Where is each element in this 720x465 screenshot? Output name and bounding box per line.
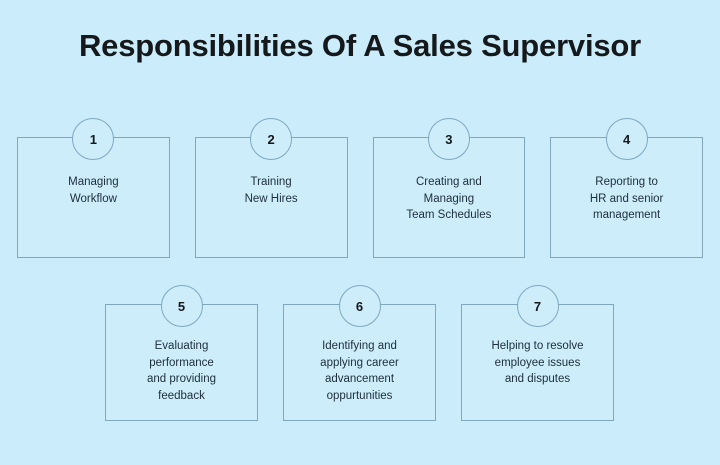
step-label-5: Evaluating performance and providing fee… [139,338,224,404]
step-label-2: Training New Hires [237,174,306,207]
step-number-badge-3: 3 [428,118,470,160]
step-number-badge-1: 1 [72,118,114,160]
step-card-2[interactable]: 2 Training New Hires [195,137,348,258]
step-card-1[interactable]: 1 Managing Workflow [17,137,170,258]
step-label-7: Helping to resolve employee issues and d… [483,338,591,388]
step-label-1: Managing Workflow [60,174,127,207]
step-card-7[interactable]: 7 Helping to resolve employee issues and… [461,304,614,421]
step-card-3[interactable]: 3 Creating and Managing Team Schedules [373,137,526,258]
page-title: Responsibilities Of A Sales Supervisor [0,26,720,66]
step-number-badge-6: 6 [339,285,381,327]
step-number-badge-5: 5 [161,285,203,327]
step-number-badge-4: 4 [606,118,648,160]
step-label-6: Identifying and applying career advancem… [312,338,407,404]
step-number-badge-7: 7 [517,285,559,327]
step-card-6[interactable]: 6 Identifying and applying career advanc… [283,304,436,421]
infographic-canvas: Responsibilities Of A Sales Supervisor 1… [0,0,720,465]
step-card-4[interactable]: 4 Reporting to HR and senior management [550,137,703,258]
step-label-4: Reporting to HR and senior management [582,174,672,224]
step-number-badge-2: 2 [250,118,292,160]
step-row-one: 1 Managing Workflow 2 Training New Hires… [17,137,703,258]
step-label-3: Creating and Managing Team Schedules [398,174,499,224]
step-row-two: 5 Evaluating performance and providing f… [105,304,614,421]
step-card-5[interactable]: 5 Evaluating performance and providing f… [105,304,258,421]
